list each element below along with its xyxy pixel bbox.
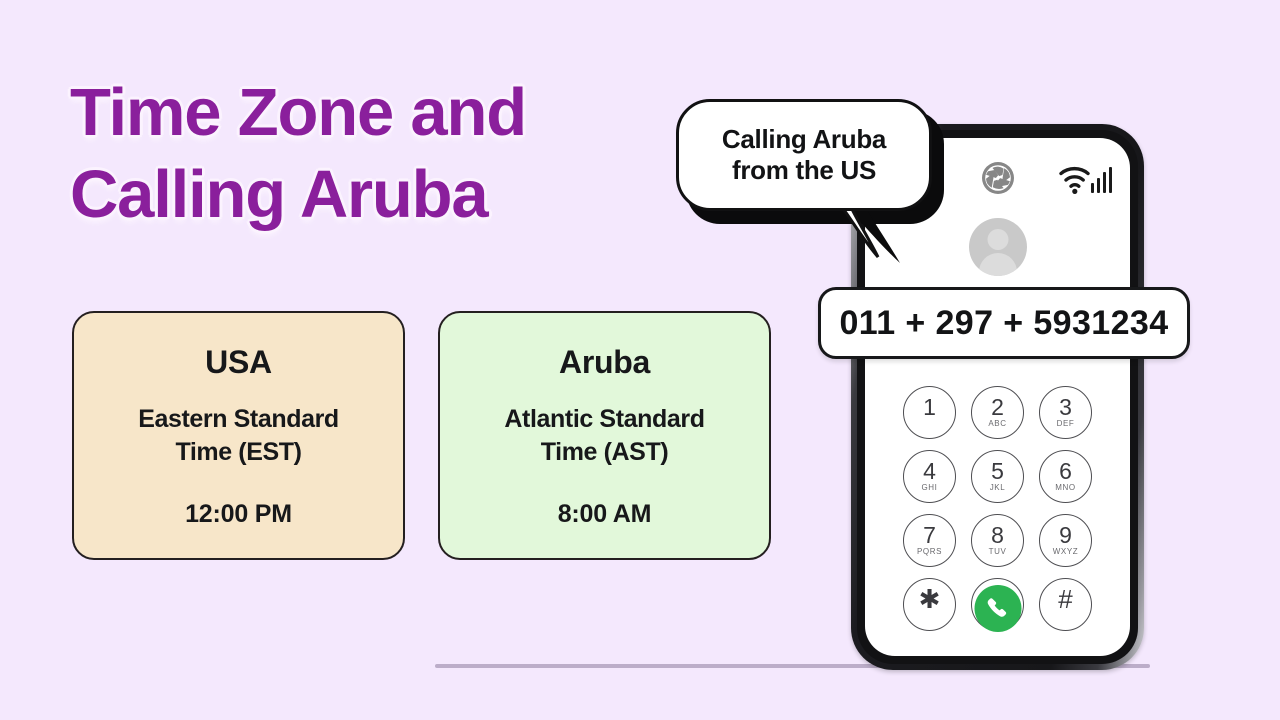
keypad-key-letters: ABC [988,419,1006,429]
keypad-key-digit: ✱ [919,586,941,612]
keypad-key-6[interactable]: 6 MNO [1039,450,1092,503]
speech-bubble-body: Calling Aruba from the US [676,99,932,211]
keypad-key-7[interactable]: 7 PQRS [903,514,956,567]
keypad-key-9[interactable]: 9 WXYZ [1039,514,1092,567]
page-title-line-1: Time Zone and [70,72,630,154]
keypad-key-hash[interactable]: # [1039,578,1092,631]
keypad-key-5[interactable]: 5 JKL [971,450,1024,503]
card-local-time: 12:00 PM [92,499,385,529]
keypad-key-1[interactable]: 1 [903,386,956,439]
avatar-body-shape [979,253,1017,276]
card-timezone-name: Atlantic Standard Time (AST) [458,403,751,469]
keypad-key-digit: 6 [1059,460,1072,482]
keypad-key-letters: DEF [1057,419,1075,429]
page-title-line-2: Calling Aruba [70,154,630,236]
keypad-key-letters: PQRS [917,547,942,557]
keypad-key-2[interactable]: 2 ABC [971,386,1024,439]
page-title: Time Zone and Calling Aruba [70,72,630,236]
wifi-signal-icon [1058,161,1114,195]
keypad-key-digit: # [1058,586,1072,612]
card-timezone-name: Eastern Standard Time (EST) [92,403,385,469]
camera-aperture-icon [980,160,1016,196]
keypad-key-star[interactable]: ✱ [903,578,956,631]
call-button[interactable] [974,585,1021,632]
keypad-key-8[interactable]: 8 TUV [971,514,1024,567]
keypad-key-digit: 1 [923,396,936,418]
keypad-key-digit: 8 [991,524,1004,546]
keypad-key-letters: WXYZ [1053,547,1079,557]
avatar-head-shape [987,229,1008,250]
keypad-key-letters: GHI [921,483,937,493]
speech-bubble: Calling Aruba from the US [676,99,944,265]
phone-handset-icon [985,596,1010,621]
keypad-key-digit: 5 [991,460,1004,482]
card-country-name: USA [92,343,385,381]
card-local-time: 8:00 AM [458,499,751,529]
keypad-key-4[interactable]: 4 GHI [903,450,956,503]
keypad-key-letters: TUV [989,547,1007,557]
speech-bubble-text: Calling Aruba from the US [722,124,886,186]
timezone-card-aruba: Aruba Atlantic Standard Time (AST) 8:00 … [438,311,771,560]
keypad-key-letters: JKL [990,483,1006,493]
keypad-key-digit: 4 [923,460,936,482]
timezone-card-usa: USA Eastern Standard Time (EST) 12:00 PM [72,311,405,560]
keypad-key-digit: 9 [1059,524,1072,546]
card-country-name: Aruba [458,343,751,381]
keypad-key-3[interactable]: 3 DEF [1039,386,1092,439]
dialed-number-badge: 011 + 297 + 5931234 [818,287,1190,359]
keypad-key-letters: MNO [1055,483,1075,493]
contact-avatar [969,218,1027,276]
keypad-key-digit: 2 [991,396,1004,418]
dialed-number-text: 011 + 297 + 5931234 [839,304,1168,343]
keypad-key-digit: 7 [923,524,936,546]
keypad-key-digit: 3 [1059,396,1072,418]
